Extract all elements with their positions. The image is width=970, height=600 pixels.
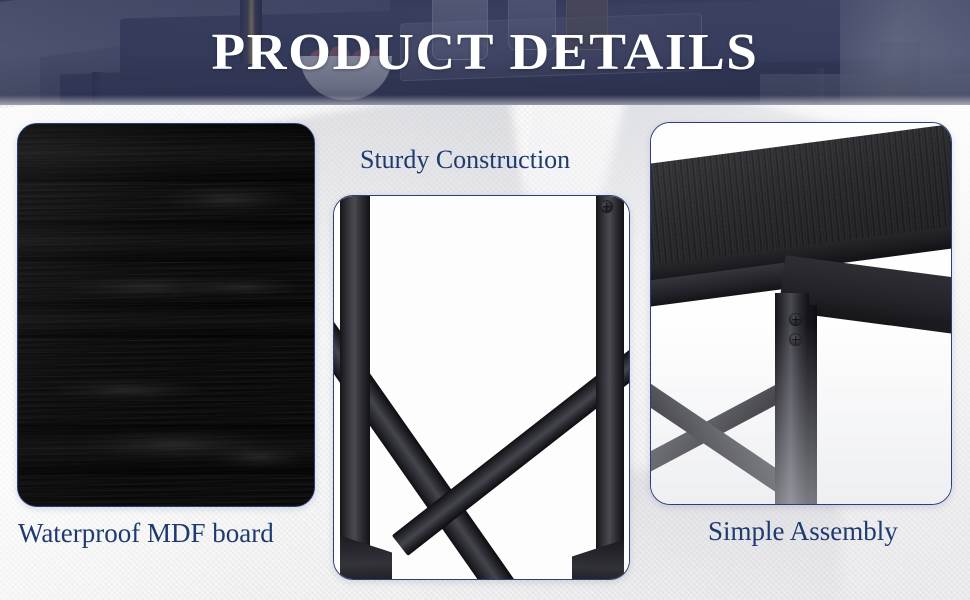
page-title: PRODUCT DETAILS bbox=[0, 0, 970, 105]
caption-waterproof-mdf: Waterproof MDF board bbox=[18, 518, 274, 549]
wood-sheen bbox=[18, 124, 314, 506]
caption-sturdy-construction: Sturdy Construction bbox=[360, 145, 570, 175]
panel-sturdy-construction bbox=[333, 195, 630, 580]
caption-simple-assembly: Simple Assembly bbox=[708, 516, 898, 547]
frame-leg-left bbox=[340, 195, 370, 580]
panel-waterproof-mdf bbox=[17, 123, 315, 507]
desk-floor-shadow bbox=[651, 323, 951, 504]
header-banner: PRODUCT DETAILS bbox=[0, 0, 970, 105]
screw-icon-frame-top bbox=[600, 200, 613, 213]
frame-leg-right bbox=[596, 195, 624, 580]
product-details-infographic: PRODUCT DETAILS Waterproof MDF board Stu… bbox=[0, 0, 970, 600]
panel-simple-assembly bbox=[650, 122, 952, 505]
